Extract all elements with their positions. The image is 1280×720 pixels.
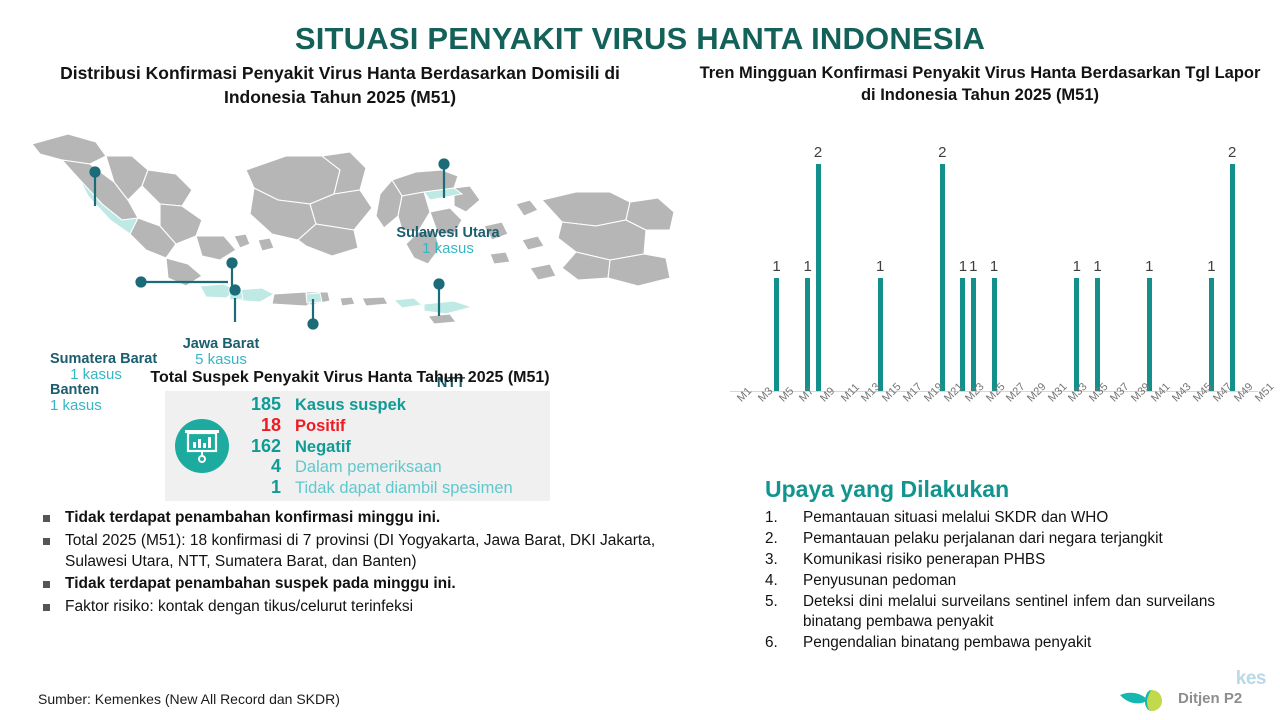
map-label-name: Sulawesi Utara: [396, 225, 499, 241]
list-text: Pemantauan pelaku perjalanan dari negara…: [803, 530, 1163, 547]
list-item: Tidak terdapat penambahan suspek pada mi…: [40, 574, 720, 595]
chart-panel-subtitle: Tren Mingguan Konfirmasi Penyakit Virus …: [690, 62, 1270, 107]
suspect-box-title: Total Suspek Penyakit Virus Hanta Tahun …: [20, 369, 680, 387]
list-item: 3. Komunikasi risiko penerapan PHBS: [765, 550, 1215, 570]
chart-bar: 1: [1074, 278, 1079, 391]
chart-bar: 2: [816, 164, 821, 391]
chart-bar-value-label: 2: [938, 144, 946, 161]
list-item: 1. Pemantauan situasi melalui SKDR dan W…: [765, 508, 1215, 528]
chart-bar-value-label: 1: [969, 258, 977, 275]
list-text: Pengendalian binatang pembawa penyakit: [803, 634, 1091, 651]
map-label-name: Jawa Barat: [183, 336, 260, 352]
left-bullet-list: Tidak terdapat penambahan konfirmasi min…: [40, 508, 720, 620]
suspect-value: 185: [237, 394, 295, 414]
logo-kes-text: kes: [1236, 668, 1266, 690]
chart-bar: 1: [805, 278, 810, 391]
suspect-value: 18: [237, 415, 295, 435]
list-number: 6.: [765, 633, 791, 653]
suspect-row: 4 Dalam pemeriksaan: [237, 456, 544, 477]
chart-bar-value-label: 1: [803, 258, 811, 275]
suspect-row: 162 Negatif: [237, 436, 544, 457]
infographic-page: SITUASI PENYAKIT VIRUS HANTA INDONESIA D…: [0, 0, 1280, 720]
list-item: Total 2025 (M51): 18 konfirmasi di 7 pro…: [40, 531, 720, 573]
map-label-sulawesi-utara: Sulawesi Utara 1 kasus: [391, 225, 505, 258]
chart-bar: 1: [1209, 278, 1214, 391]
suspect-label: Positif: [295, 417, 345, 436]
highlight-ntt: [424, 301, 472, 314]
map-label-cases: 1 kasus: [50, 398, 150, 415]
chart-bar-value-label: 1: [1207, 258, 1215, 275]
suspect-rows: 185 Kasus suspek 18 Positif 162 Negatif …: [237, 394, 550, 497]
list-number: 4.: [765, 571, 791, 591]
list-item: 4. Penyusunan pedoman: [765, 571, 1215, 591]
chart-plot-area: 1121211111112: [730, 120, 1258, 392]
chart-bar-value-label: 1: [959, 258, 967, 275]
list-number: 2.: [765, 529, 791, 549]
suspect-label: Negatif: [295, 438, 351, 457]
logo-mark-icon: [1118, 686, 1174, 714]
suspect-row: 1 Tidak dapat diambil spesimen: [237, 477, 544, 498]
chart-bar: 2: [940, 164, 945, 391]
map-panel-subtitle: Distribusi Konfirmasi Penyakit Virus Han…: [20, 62, 660, 109]
suspect-row: 185 Kasus suspek: [237, 394, 544, 415]
chart-bar-value-label: 1: [1093, 258, 1101, 275]
list-number: 5.: [765, 592, 791, 612]
chart-bar-value-label: 1: [772, 258, 780, 275]
chart-bar: 1: [1095, 278, 1100, 391]
list-item: Faktor risiko: kontak dengan tikus/celur…: [40, 597, 720, 618]
list-number: 3.: [765, 550, 791, 570]
chart-bar: 1: [971, 278, 976, 391]
suspect-value: 4: [237, 456, 295, 476]
bullet-square-icon: [43, 581, 50, 588]
list-item: 5. Deteksi dini melalui surveilans senti…: [765, 592, 1215, 632]
suspect-summary-box: 185 Kasus suspek 18 Positif 162 Negatif …: [165, 391, 550, 501]
upaya-list: 1. Pemantauan situasi melalui SKDR dan W…: [765, 508, 1215, 654]
upaya-heading: Upaya yang Dilakukan: [765, 476, 1009, 503]
suspect-label: Tidak dapat diambil spesimen: [295, 479, 513, 498]
indonesia-map: Sumatera Barat 1 kasus Banten 1 kasus Ja…: [10, 108, 690, 363]
bullet-text: Tidak terdapat penambahan suspek pada mi…: [65, 575, 456, 592]
list-text: Penyusunan pedoman: [803, 572, 956, 589]
suspect-label: Dalam pemeriksaan: [295, 458, 442, 477]
chart-bar-value-label: 1: [990, 258, 998, 275]
pin-sumatera-barat: [89, 166, 100, 177]
pin-dki-jakarta: [229, 284, 240, 295]
map-svg: [10, 108, 690, 363]
list-text: Pemantauan situasi melalui SKDR dan WHO: [803, 509, 1108, 526]
weekly-trend-chart: 1121211111112 M1M3M5M7M9M11M13M15M17M19M…: [712, 120, 1264, 420]
pin-banten: [135, 276, 146, 287]
pin-ntt: [433, 278, 444, 289]
suspect-value: 1: [237, 477, 295, 497]
pin-jawa-barat: [226, 257, 237, 268]
bullet-text: Faktor risiko: kontak dengan tikus/celur…: [65, 598, 413, 615]
chart-bar: 1: [992, 278, 997, 391]
list-item: 6. Pengendalian binatang pembawa penyaki…: [765, 633, 1215, 653]
chart-bar-value-label: 1: [1073, 258, 1081, 275]
map-label-cases: 1 kasus: [391, 241, 505, 258]
chart-bar: 1: [960, 278, 965, 391]
chart-bar-value-label: 1: [876, 258, 884, 275]
chart-x-axis: M1M3M5M7M9M11M13M15M17M19M21M23M25M27M29…: [730, 394, 1258, 440]
chart-bar-value-label: 1: [1145, 258, 1153, 275]
chart-bar: 1: [1147, 278, 1152, 391]
kemenkes-logo: kes Ditjen P2: [1118, 668, 1268, 714]
list-item: 2. Pemantauan pelaku perjalanan dari neg…: [765, 529, 1215, 549]
map-label-cases: 5 kasus: [176, 352, 266, 369]
chart-bar: 2: [1230, 164, 1235, 391]
map-label-name: Sumatera Barat: [50, 351, 157, 367]
list-item: Tidak terdapat penambahan konfirmasi min…: [40, 508, 720, 529]
chart-bar: 1: [878, 278, 883, 391]
pin-diy: [307, 318, 318, 329]
bullet-text: Tidak terdapat penambahan konfirmasi min…: [65, 509, 440, 526]
list-number: 1.: [765, 508, 791, 528]
page-title: SITUASI PENYAKIT VIRUS HANTA INDONESIA: [0, 21, 1280, 57]
list-text: Deteksi dini melalui surveilans sentinel…: [803, 593, 1215, 630]
suspect-row: 18 Positif: [237, 415, 544, 436]
chart-bar-value-label: 2: [1228, 144, 1236, 161]
chart-bar-value-label: 2: [814, 144, 822, 161]
chart-bar: 1: [774, 278, 779, 391]
highlight-ntt-west: [394, 298, 422, 308]
bullet-square-icon: [43, 515, 50, 522]
bullet-square-icon: [43, 538, 50, 545]
suspect-value: 162: [237, 436, 295, 456]
pin-sulawesi-utara: [438, 158, 449, 169]
bullet-square-icon: [43, 604, 50, 611]
source-note: Sumber: Kemenkes (New All Record dan SKD…: [38, 691, 340, 707]
list-text: Komunikasi risiko penerapan PHBS: [803, 551, 1045, 568]
bullet-text: Total 2025 (M51): 18 konfirmasi di 7 pro…: [65, 532, 655, 570]
presentation-chart-icon: [175, 419, 229, 473]
suspect-label: Kasus suspek: [295, 396, 406, 415]
map-label-jawa-barat: Jawa Barat 5 kasus: [176, 336, 266, 369]
logo-ditjen-text: Ditjen P2: [1178, 690, 1242, 707]
